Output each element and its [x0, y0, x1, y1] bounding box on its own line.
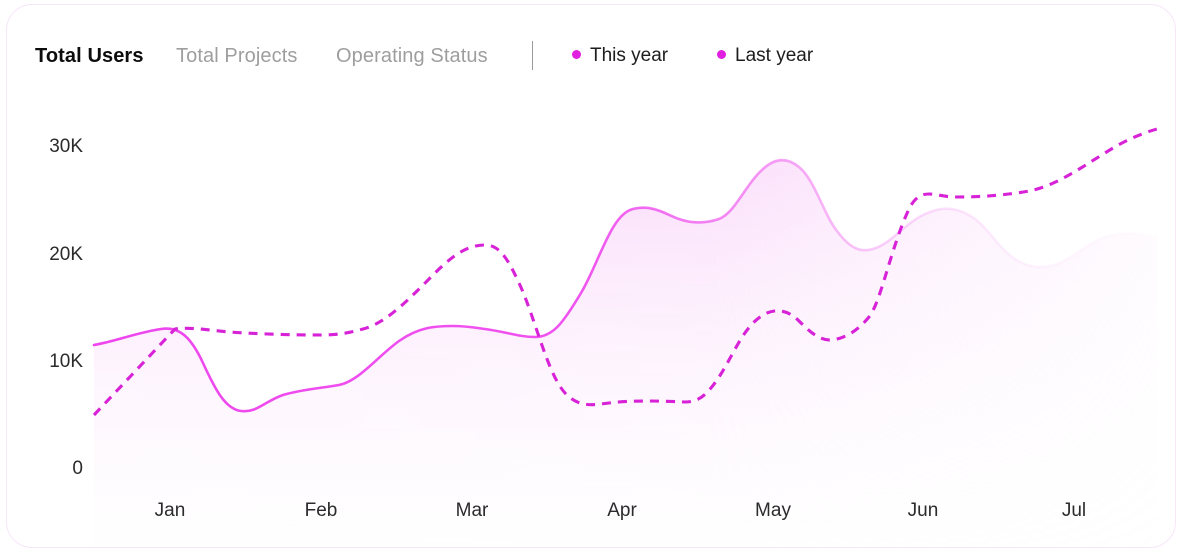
- x-axis-tick-feb: Feb: [305, 500, 338, 522]
- x-axis-tick-may: May: [755, 500, 791, 522]
- tab-total-projects[interactable]: Total Projects: [176, 43, 297, 69]
- legend-dot-icon: [572, 50, 581, 59]
- x-axis-tick-jun: Jun: [908, 500, 939, 522]
- line-chart-svg: [7, 97, 1176, 548]
- x-axis-tick-jan: Jan: [155, 500, 186, 522]
- legend-label-last-year: Last year: [735, 45, 813, 66]
- area-fill-this-year: [94, 160, 1157, 548]
- legend-label-this-year: This year: [590, 45, 668, 66]
- y-axis-tick-0: 0: [25, 458, 83, 480]
- legend-dot-icon: [717, 50, 726, 59]
- x-axis-tick-apr: Apr: [607, 500, 637, 522]
- chart-card: Total Users Total Projects Operating Sta…: [6, 4, 1176, 548]
- header-divider: [532, 41, 533, 70]
- y-axis-tick-20k: 20K: [25, 244, 83, 266]
- y-axis-tick-10k: 10K: [25, 351, 83, 373]
- legend-item-last-year[interactable]: Last year: [717, 43, 813, 69]
- tab-operating-status[interactable]: Operating Status: [336, 43, 488, 69]
- chart-header: Total Users Total Projects Operating Sta…: [7, 5, 1175, 97]
- tab-total-users[interactable]: Total Users: [35, 43, 144, 69]
- legend-item-this-year[interactable]: This year: [572, 43, 668, 69]
- x-axis-tick-jul: Jul: [1062, 500, 1086, 522]
- x-axis-tick-mar: Mar: [456, 500, 489, 522]
- chart-plot-area: 30K 20K 10K 0 Jan Feb Mar Apr May Jun Ju…: [7, 97, 1176, 548]
- y-axis-tick-30k: 30K: [25, 136, 83, 158]
